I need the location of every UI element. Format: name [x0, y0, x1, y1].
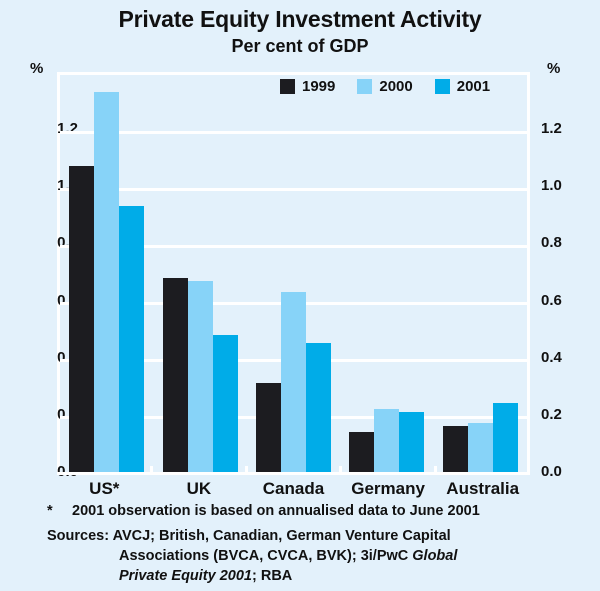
- bar-australia-2000: [468, 423, 493, 472]
- axis-baseline: [57, 472, 530, 475]
- x-axis-label-germany: Germany: [341, 479, 436, 499]
- legend-label-2000: 2000: [379, 79, 412, 94]
- x-axis-label-us: US*: [57, 479, 152, 499]
- legend-swatch-1999: [280, 79, 295, 94]
- legend-item-2000: 2000: [357, 79, 412, 94]
- legend-label-1999: 1999: [302, 79, 335, 94]
- x-axis-labels: US*UKCanadaGermanyAustralia: [57, 479, 530, 499]
- x-axis-tick-2: [245, 466, 248, 475]
- bar-us-2001: [119, 206, 144, 472]
- legend-item-2001: 2001: [435, 79, 490, 94]
- x-axis-label-uk: UK: [152, 479, 247, 499]
- y-tick-label-right-1.0: 1.0: [541, 178, 562, 193]
- sources-line-1: AVCJ; British, Canadian, German Venture …: [113, 528, 451, 544]
- plot-area: [57, 72, 530, 472]
- bar-us-2000: [94, 92, 119, 472]
- sources-line-3-plain: ; RBA: [252, 568, 292, 584]
- bar-germany-1999: [349, 432, 374, 472]
- legend-swatch-2001: [435, 79, 450, 94]
- y-tick-label-right-0.8: 0.8: [541, 235, 562, 250]
- bar-australia-2001: [493, 403, 518, 472]
- chart-footnote: * 2001 observation is based on annualise…: [47, 503, 567, 519]
- footnote-text: 2001 observation is based on annualised …: [72, 503, 480, 519]
- bar-germany-2000: [374, 409, 399, 472]
- sources-label: Sources:: [47, 528, 109, 544]
- x-axis-tick-3: [339, 466, 342, 475]
- x-axis-label-canada: Canada: [246, 479, 341, 499]
- sources-line-3: Private Equity 2001; RBA: [47, 566, 577, 586]
- sources-line-2: Associations (BVCA, CVCA, BVK); 3i/PwC G…: [47, 546, 577, 566]
- legend-item-1999: 1999: [280, 79, 335, 94]
- bar-canada-2000: [281, 292, 306, 472]
- bar-group-germany: [340, 75, 433, 472]
- bar-uk-2000: [188, 281, 213, 472]
- chart-subtitle: Per cent of GDP: [0, 36, 600, 57]
- bar-germany-2001: [399, 412, 424, 472]
- bar-australia-1999: [443, 426, 468, 472]
- legend-swatch-2000: [357, 79, 372, 94]
- x-axis-label-australia: Australia: [435, 479, 530, 499]
- x-axis-tick-4: [434, 466, 437, 475]
- plot-inner: [60, 75, 527, 472]
- bar-us-1999: [69, 166, 94, 472]
- y-axis-unit-left: %: [30, 60, 43, 77]
- y-tick-label-right-0.2: 0.2: [541, 407, 562, 422]
- bar-uk-2001: [213, 335, 238, 472]
- bar-groups: [60, 75, 527, 472]
- sources-line-2-plain: Associations (BVCA, CVCA, BVK); 3i/PwC: [119, 548, 412, 564]
- bar-group-uk: [153, 75, 246, 472]
- y-axis-unit-right: %: [547, 60, 560, 77]
- bar-uk-1999: [163, 278, 188, 472]
- chart-container: Private Equity Investment Activity Per c…: [0, 0, 600, 591]
- chart-title: Private Equity Investment Activity: [0, 6, 600, 33]
- y-tick-label-right-0.4: 0.4: [541, 350, 562, 365]
- x-axis-tick-1: [150, 466, 153, 475]
- y-tick-label-right-0.0: 0.0: [541, 464, 562, 479]
- bar-group-us: [60, 75, 153, 472]
- chart-sources: Sources: AVCJ; British, Canadian, German…: [47, 526, 577, 586]
- y-tick-label-right-1.2: 1.2: [541, 121, 562, 136]
- bar-canada-2001: [306, 343, 331, 472]
- sources-line-2-italic: Global: [412, 548, 457, 564]
- sources-line-3-italic: Private Equity 2001: [119, 568, 252, 584]
- legend-label-2001: 2001: [457, 79, 490, 94]
- bar-group-canada: [247, 75, 340, 472]
- footnote-marker: *: [47, 503, 55, 519]
- y-tick-label-right-0.6: 0.6: [541, 293, 562, 308]
- bar-group-australia: [434, 75, 527, 472]
- chart-legend: 1999 2000 2001: [280, 79, 490, 94]
- bar-canada-1999: [256, 383, 281, 472]
